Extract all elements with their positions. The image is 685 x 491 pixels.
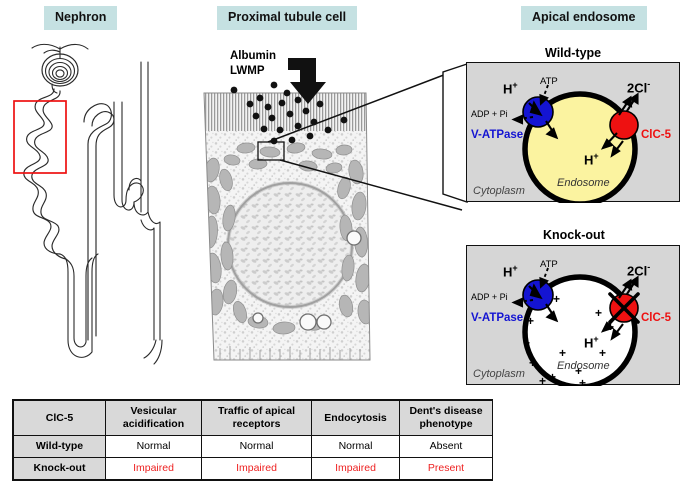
glomerulus-icon xyxy=(32,44,88,93)
table-row-label-knock-out: Knock-out xyxy=(14,457,106,479)
positive-charge: + xyxy=(523,336,530,350)
positive-charge: + xyxy=(549,370,556,384)
knock-out-title: Knock-out xyxy=(543,228,605,242)
positive-charge: + xyxy=(527,314,534,328)
table-cell-ko-traffic: Impaired xyxy=(202,457,312,479)
positive-charge: + xyxy=(579,376,586,390)
clc5-label: ClC-5 xyxy=(641,129,671,141)
panel-header-apical-endosome: Apical endosome xyxy=(521,6,647,30)
table-header-cell-2: Traffic of apical receptors xyxy=(202,401,312,436)
atp-label: ATP xyxy=(540,259,558,270)
table-row: Wild-type Normal Normal Normal Absent xyxy=(14,435,493,457)
h-plus-vatpase-label: H+ xyxy=(503,263,518,279)
cargo-label-albumin: Albumin xyxy=(230,50,276,62)
collecting-duct xyxy=(114,62,162,364)
wild-type-panel: H+ ATP ADP + Pi V-ATPase 2Cl- ClC-5 H+ E… xyxy=(466,62,680,202)
cytoplasm-label-ko: Cytoplasm xyxy=(473,368,525,380)
summary-table: ClC-5 Vesicular acidification Traffic of… xyxy=(13,400,493,480)
clc5-label: ClC-5 xyxy=(641,312,671,324)
panel-header-proximal-tubule-cell: Proximal tubule cell xyxy=(217,6,357,30)
nephron-highlight-box xyxy=(14,101,66,173)
nephron-diagram xyxy=(8,40,198,385)
v-atpase-label: V-ATPase xyxy=(471,312,523,324)
wild-type-panel-3d-edge xyxy=(441,62,469,204)
table-cell-wt-phenotype: Absent xyxy=(400,435,493,457)
cargo-label-lwmp: LWMP xyxy=(230,65,265,77)
chloride-label: 2Cl- xyxy=(627,262,650,278)
h-plus-clc5-label: H+ xyxy=(584,151,599,167)
endosome-label-wt: Endosome xyxy=(557,177,610,189)
endosome-label-ko: Endosome xyxy=(557,360,610,372)
proximal-convoluted-tubule xyxy=(24,89,66,259)
table-cell-wt-traffic: Normal xyxy=(202,435,312,457)
knock-out-panel: H+ ATP ADP + Pi V-ATPase 2Cl- ClC-5 H+ +… xyxy=(466,245,680,385)
positive-charge: + xyxy=(607,320,614,334)
down-arrow-icon xyxy=(288,58,326,104)
positive-charge: + xyxy=(539,374,546,388)
positive-charge: + xyxy=(599,346,606,360)
table-cell-wt-endocytosis: Normal xyxy=(312,435,400,457)
table-cell-ko-endocytosis: Impaired xyxy=(312,457,400,479)
table-header-cell-1: Vesicular acidification xyxy=(106,401,202,436)
positive-charge: + xyxy=(559,346,566,360)
wild-type-title: Wild-type xyxy=(545,46,601,60)
loop-of-henle xyxy=(60,254,98,357)
table-header-cell-3: Endocytosis xyxy=(312,401,400,436)
adp-pi-label: ADP + Pi xyxy=(471,292,508,302)
distal-tubule xyxy=(84,104,114,340)
table-header-cell-0: ClC-5 xyxy=(14,401,106,436)
table-cell-wt-acidification: Normal xyxy=(106,435,202,457)
positive-charge: + xyxy=(595,306,602,320)
positive-charge: + xyxy=(553,292,560,306)
panel-header-nephron: Nephron xyxy=(44,6,117,30)
table-row: Knock-out Impaired Impaired Impaired Pre… xyxy=(14,457,493,479)
table-row-label-wild-type: Wild-type xyxy=(14,435,106,457)
positive-charge: + xyxy=(529,356,536,370)
table-cell-ko-phenotype: Present xyxy=(400,457,493,479)
table-header-row: ClC-5 Vesicular acidification Traffic of… xyxy=(14,401,493,436)
v-atpase-label: V-ATPase xyxy=(471,129,523,141)
chloride-label: 2Cl- xyxy=(627,79,650,95)
cytoplasm-label-wt: Cytoplasm xyxy=(473,185,525,197)
h-plus-clc5-label: H+ xyxy=(584,334,599,350)
table-header-cell-4: Dent's disease phenotype xyxy=(400,401,493,436)
table-cell-ko-acidification: Impaired xyxy=(106,457,202,479)
atp-label: ATP xyxy=(540,76,558,87)
adp-pi-label: ADP + Pi xyxy=(471,109,508,119)
h-plus-vatpase-label: H+ xyxy=(503,80,518,96)
